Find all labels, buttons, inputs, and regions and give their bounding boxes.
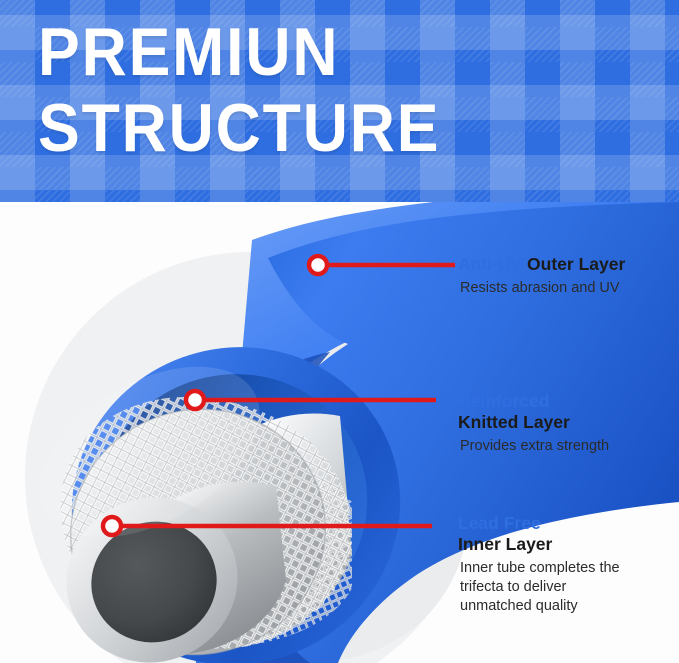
callout-anti-uv-accent: Anti-UV — [458, 254, 522, 274]
callout-anti-uv: Anti-UV Outer Layer Resists abrasion and… — [458, 254, 676, 298]
infographic-page: PREMIUN STRUCTURE — [0, 0, 679, 663]
callout-lead-free-title: Lead Free Inner Layer — [458, 513, 676, 555]
callout-lead-free-accent: Lead Free — [458, 513, 541, 533]
callout-reinforced-dark: Knitted Layer — [458, 412, 676, 433]
callout-lead-free: Lead Free Inner Layer Inner tube complet… — [458, 513, 676, 616]
callout-reinforced-subtitle: Provides extra strength — [460, 437, 676, 456]
callout-lead-free-subtitle: Inner tube completes the trifecta to del… — [460, 559, 676, 616]
callout-anti-uv-title: Anti-UV Outer Layer — [458, 254, 676, 275]
callout-anti-uv-dark: Outer Layer — [527, 254, 625, 274]
callout-reinforced: Reinforced Knitted Layer Provides extra … — [458, 391, 676, 456]
callout-anti-uv-subtitle: Resists abrasion and UV — [460, 279, 676, 298]
header-banner: PREMIUN STRUCTURE — [0, 0, 679, 202]
callout-reinforced-accent: Reinforced — [458, 391, 549, 411]
callout-reinforced-title: Reinforced Knitted Layer — [458, 391, 676, 433]
callout-lead-free-dark: Inner Layer — [458, 534, 676, 555]
page-title: PREMIUN STRUCTURE — [38, 14, 618, 166]
